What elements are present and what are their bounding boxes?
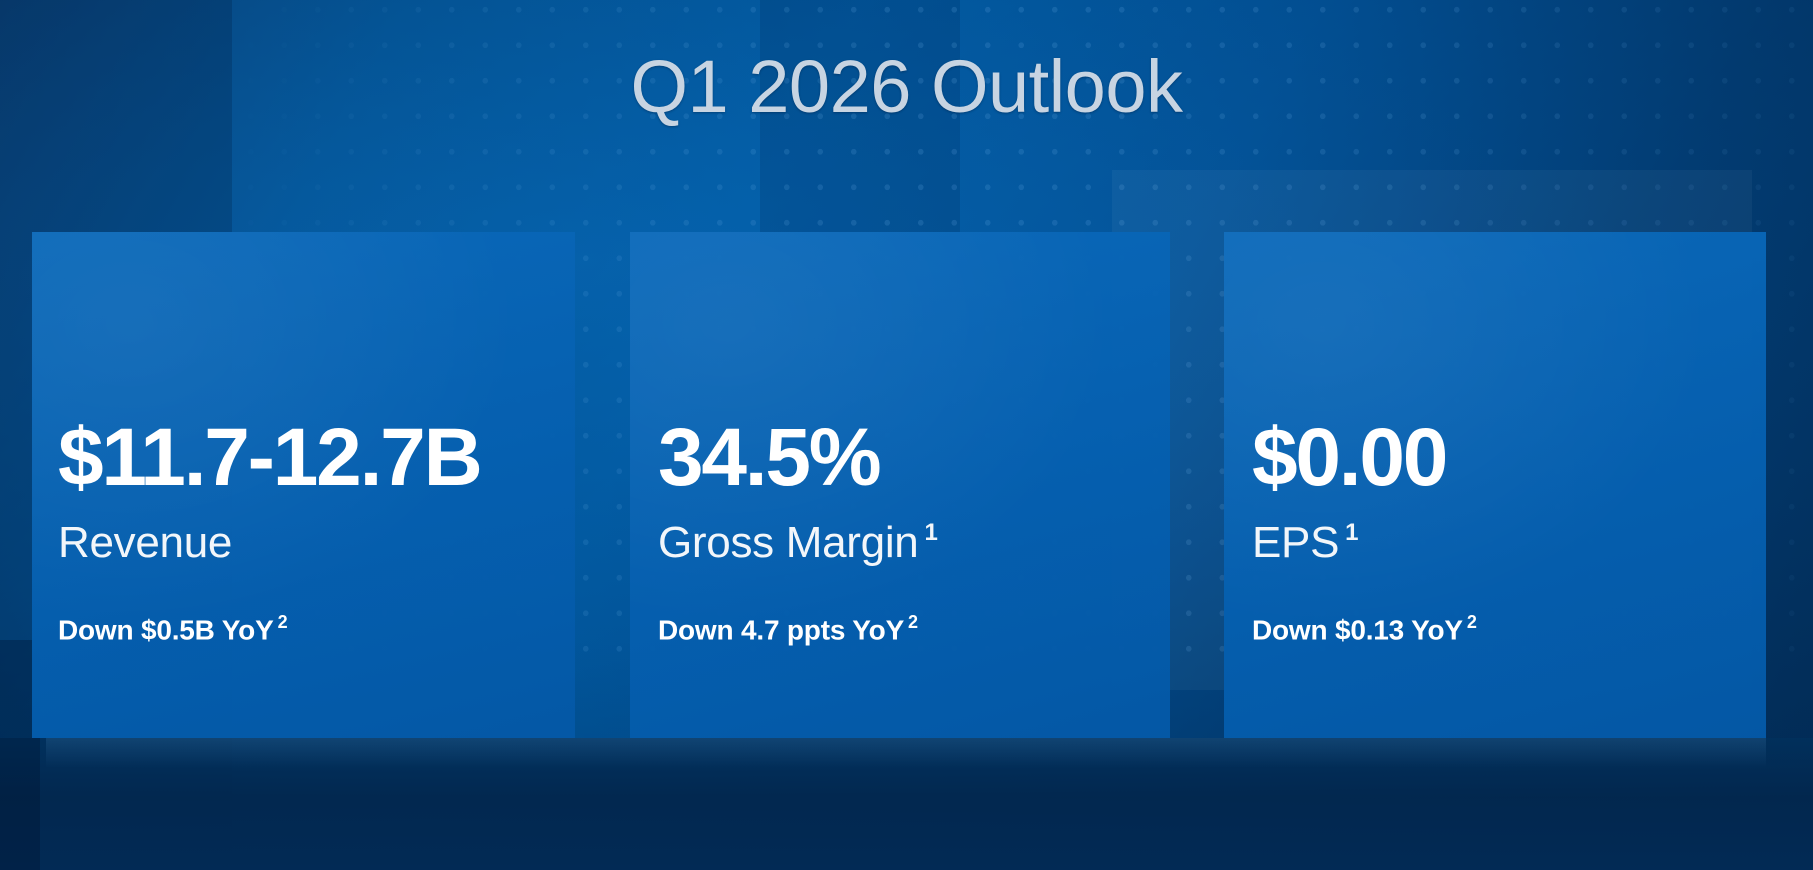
metric-label: EPS1 [1252, 519, 1740, 567]
metric-card-content: $11.7-12.7B Revenue Down $0.5B YoY2 [32, 417, 575, 738]
metric-note: Down $0.5B YoY2 [58, 614, 549, 646]
metric-label-text: Revenue [58, 518, 232, 567]
metric-note-text: Down $0.5B YoY [58, 614, 274, 645]
metric-label-footnote: 1 [924, 519, 937, 546]
metric-label: Revenue [58, 519, 549, 567]
background-bottom-highlight [46, 738, 1766, 768]
metric-card-content: $0.00 EPS1 Down $0.13 YoY2 [1224, 417, 1766, 738]
metric-note-footnote: 2 [908, 612, 918, 632]
metric-note-footnote: 2 [1467, 612, 1477, 632]
metric-card-gross-margin: 34.5% Gross Margin1 Down 4.7 ppts YoY2 [630, 232, 1170, 738]
outlook-slide: Q1 2026 Outlook $11.7-12.7B Revenue Down… [0, 0, 1813, 870]
page-title: Q1 2026 Outlook [0, 48, 1813, 126]
metric-value: $0.00 [1252, 417, 1740, 499]
metric-label: Gross Margin1 [658, 519, 1144, 567]
metric-label-footnote: 1 [1345, 519, 1358, 546]
metric-note-footnote: 2 [278, 612, 288, 632]
metric-note-text: Down 4.7 ppts YoY [658, 614, 904, 645]
metric-card-revenue: $11.7-12.7B Revenue Down $0.5B YoY2 [32, 232, 575, 738]
metric-card-content: 34.5% Gross Margin1 Down 4.7 ppts YoY2 [630, 417, 1170, 738]
metric-note: Down 4.7 ppts YoY2 [658, 614, 1144, 646]
metric-label-text: EPS [1252, 518, 1339, 567]
metric-label-text: Gross Margin [658, 518, 918, 567]
metric-note: Down $0.13 YoY2 [1252, 614, 1740, 646]
metric-value: 34.5% [658, 417, 1144, 499]
metric-card-eps: $0.00 EPS1 Down $0.13 YoY2 [1224, 232, 1766, 738]
metric-note-text: Down $0.13 YoY [1252, 614, 1463, 645]
metric-value: $11.7-12.7B [58, 417, 549, 499]
